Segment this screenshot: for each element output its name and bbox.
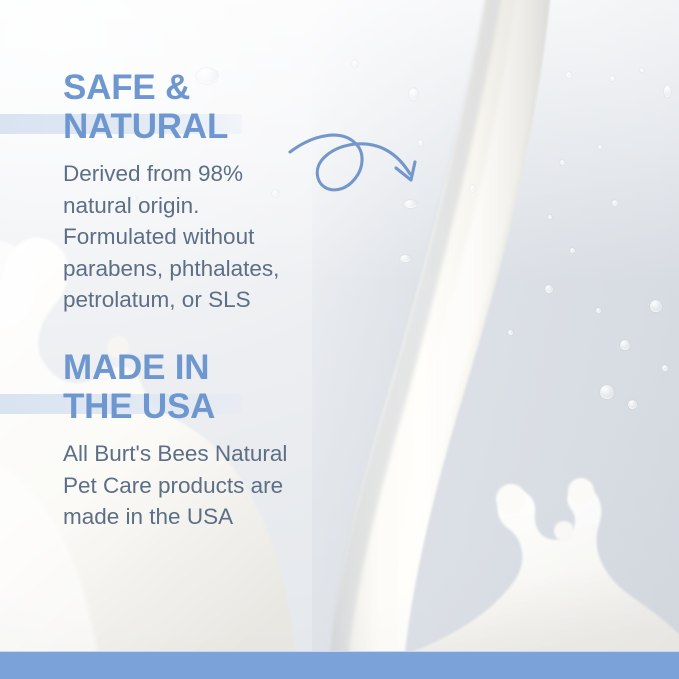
curved-arrow-icon <box>288 112 428 204</box>
content-overlay: SAFE & NATURAL Derived from 98% natural … <box>0 0 679 679</box>
product-feature-image: SAFE & NATURAL Derived from 98% natural … <box>0 0 679 679</box>
section-safe-and-natural: SAFE & NATURAL Derived from 98% natural … <box>63 68 279 316</box>
headline-made-in-the-usa: MADE IN THE USA <box>63 348 215 426</box>
bottom-accent-bar <box>0 651 679 679</box>
body-safe-and-natural: Derived from 98% natural origin. Formula… <box>63 146 279 316</box>
headline-safe-and-natural: SAFE & NATURAL <box>63 68 228 146</box>
curved-arrow-svg <box>288 112 428 204</box>
section-made-in-the-usa: MADE IN THE USA All Burt's Bees Natural … <box>63 348 287 533</box>
body-made-in-the-usa: All Burt's Bees Natural Pet Care product… <box>63 426 287 533</box>
